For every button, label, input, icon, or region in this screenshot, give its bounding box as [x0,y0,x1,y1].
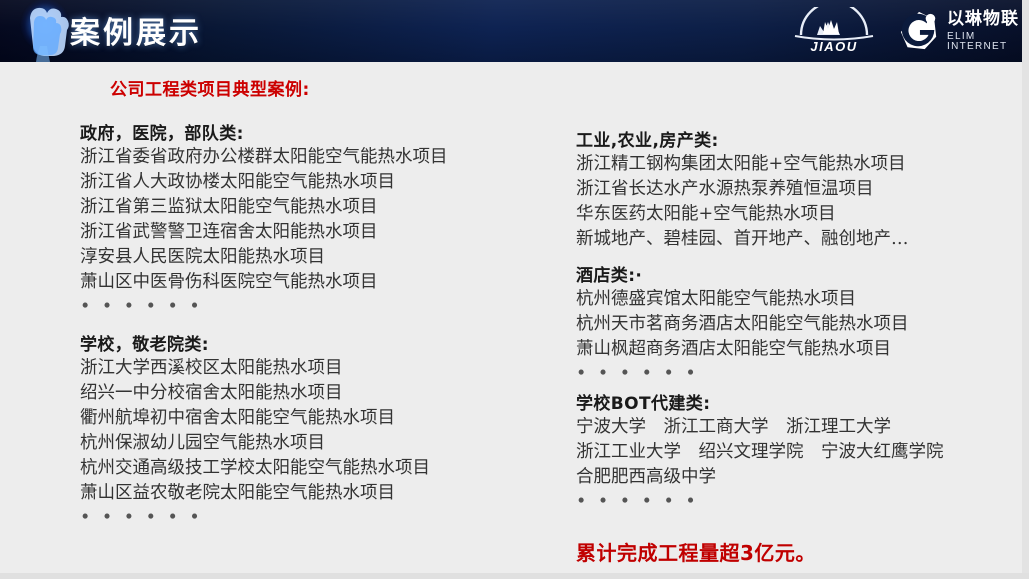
group-title: 学校，敬老院类: [80,330,560,355]
ellipsis: • • • • • • [576,362,1026,387]
group-school-bot: 学校BOT代建类: 宁波大学 浙江工商大学 浙江理工大学 浙江工业大学 绍兴文理… [576,389,1026,515]
page-title: 案例展示 [70,8,202,52]
lead-heading: 公司工程类项目典型案例: [110,75,310,100]
list-item: 萧山枫超商务酒店太阳能空气能热水项目 [576,337,1026,362]
list-item: 浙江省委省政府办公楼群太阳能空气能热水项目 [80,145,560,170]
group-title: 工业,农业,房产类: [576,126,1026,151]
ellipsis: • • • • • • [576,490,1026,515]
page-edge-right [1022,0,1029,579]
jiaou-logo: JIAOU [779,7,889,55]
slide-body: 公司工程类项目典型案例: 政府，医院，部队类: 浙江省委省政府办公楼群太阳能空气… [0,62,1029,573]
list-item: 浙江省长达水产水源热泵养殖恒温项目 [576,177,1026,202]
right-column: 工业,农业,房产类: 浙江精工钢构集团太阳能+空气能热水项目 浙江省长达水产水源… [576,126,1026,566]
ellipsis: • • • • • • [80,506,560,531]
group-government: 政府，医院，部队类: 浙江省委省政府办公楼群太阳能空气能热水项目 浙江省人大政协… [80,119,560,320]
list-item: 合肥肥西高级中学 [576,465,1026,490]
list-item: 浙江工业大学 绍兴文理学院 宁波大红鹰学院 [576,440,1026,465]
g-hexagon-mark [898,10,940,52]
list-item: 淳安县人民医院太阳能热水项目 [80,245,560,270]
list-item: 浙江精工钢构集团太阳能+空气能热水项目 [576,152,1026,177]
left-column: 政府，医院，部队类: 浙江省委省政府办公楼群太阳能空气能热水项目 浙江省人大政协… [80,119,560,531]
list-item: 杭州德盛宾馆太阳能空气能热水项目 [576,287,1026,312]
list-item: 浙江省人大政协楼太阳能空气能热水项目 [80,170,560,195]
ellipsis: • • • • • • [80,295,560,320]
elim-logo: 以琳物联 ELIM INTERNET [898,8,1029,54]
list-item: 浙江大学西溪校区太阳能热水项目 [80,356,560,381]
elim-logo-cn: 以琳物联 [947,11,1029,28]
list-item: 宁波大学 浙江工商大学 浙江理工大学 [576,415,1026,440]
list-item: 浙江省武警警卫连宿舍太阳能热水项目 [80,220,560,245]
group-hotels: 酒店类:· 杭州德盛宾馆太阳能空气能热水项目 杭州天市茗商务酒店太阳能空气能热水… [576,261,1026,387]
elim-logo-en: ELIM INTERNET [947,32,1029,52]
group-schools-eldercare: 学校，敬老院类: 浙江大学西溪校区太阳能热水项目 绍兴一中分校宿舍太阳能热水项目… [80,330,560,531]
list-item: 杭州保淑幼儿园空气能热水项目 [80,431,560,456]
jiaou-wordmark: JIAOU [779,39,889,54]
list-item: 衢州航埠初中宿舍太阳能空气能热水项目 [80,406,560,431]
list-item: 杭州天市茗商务酒店太阳能空气能热水项目 [576,312,1026,337]
sun-arch-emblem [779,7,889,41]
list-item: 萧山区中医骨伤科医院空气能热水项目 [80,270,560,295]
fist-icon [14,0,76,62]
page-edge-bottom [0,573,1029,579]
list-item: 浙江省第三监狱太阳能空气能热水项目 [80,195,560,220]
slide-header: 案例展示 JIAOU 以琳物联 ELIM INTERNET [0,0,1029,62]
group-industry-agriculture-property: 工业,农业,房产类: 浙江精工钢构集团太阳能+空气能热水项目 浙江省长达水产水源… [576,126,1026,252]
list-item: 杭州交通高级技工学校太阳能空气能热水项目 [80,456,560,481]
group-title: 政府，医院，部队类: [80,119,560,144]
group-title: 酒店类:· [576,261,1026,286]
list-item: 新城地产、碧桂园、首开地产、融创地产… [576,227,1026,252]
list-item: 绍兴一中分校宿舍太阳能热水项目 [80,381,560,406]
slide: 案例展示 JIAOU 以琳物联 ELIM INTERNET 公司工程类项 [0,0,1029,579]
list-item: 华东医药太阳能+空气能热水项目 [576,202,1026,227]
list-item: 萧山区益农敬老院太阳能空气能热水项目 [80,481,560,506]
group-title: 学校BOT代建类: [576,389,1026,414]
total-volume-text: 累计完成工程量超3亿元。 [576,537,1026,566]
